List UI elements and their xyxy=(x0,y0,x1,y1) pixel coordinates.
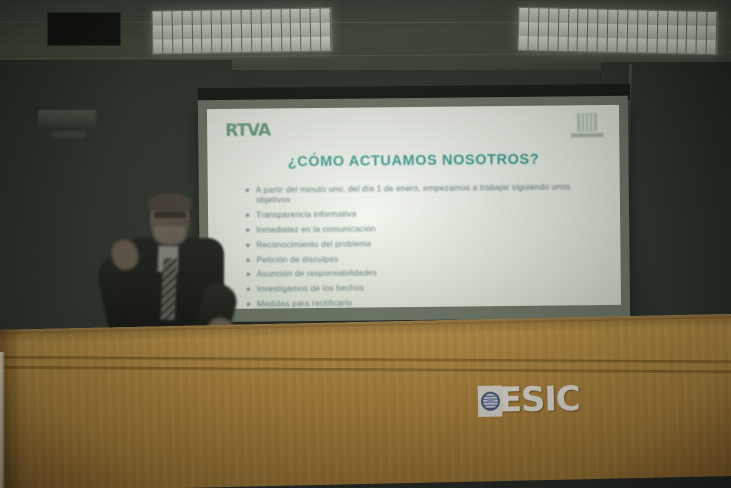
crest-caption-bar xyxy=(571,133,603,137)
presenter-beard xyxy=(154,226,186,246)
presenter-tie xyxy=(161,258,178,321)
crest-icon xyxy=(577,113,597,131)
slide-title: ¿CÓMO ACTUAMOS NOSOTROS? xyxy=(207,151,619,171)
projection-screen: RTVA ¿CÓMO ACTUAMOS NOSOTROS? A partir d… xyxy=(198,96,630,322)
ceiling-vent xyxy=(47,12,121,46)
list-item: Investigamos de los hechos xyxy=(245,280,595,294)
seal-icon xyxy=(480,392,499,411)
wall-sign xyxy=(38,110,96,129)
presenter-hair xyxy=(148,193,192,213)
podium xyxy=(0,314,731,488)
esic-logo: ESIC xyxy=(478,384,580,417)
slide-bullet-list: A partir del minuto uno, del día 1 de en… xyxy=(244,181,595,309)
list-item: Asunción de responsabilidades xyxy=(245,266,595,280)
light-grille-row xyxy=(153,36,331,54)
list-item: Medidas para rectificarlo xyxy=(245,295,595,309)
rtva-logo: RTVA xyxy=(225,121,270,141)
list-item: Transparencia informativa xyxy=(244,206,594,220)
slide-secondary-logo xyxy=(571,113,603,139)
list-item: Petición de disculpas xyxy=(244,251,594,265)
wall-sign-subtext xyxy=(52,131,86,138)
list-item: Inmediatez en la comunicación xyxy=(244,221,594,235)
ceiling-light-right xyxy=(518,7,719,55)
list-item: A partir del minuto uno, del día 1 de en… xyxy=(244,181,594,205)
conference-room-photo: RTVA ¿CÓMO ACTUAMOS NOSOTROS? A partir d… xyxy=(0,0,731,488)
presentation-slide: RTVA ¿CÓMO ACTUAMOS NOSOTROS? A partir d… xyxy=(207,105,621,309)
list-item: Reconocimiento del problema xyxy=(244,236,594,250)
esic-wordmark: ESIC xyxy=(499,384,580,417)
left-edge-highlight xyxy=(0,352,5,488)
glasses-icon xyxy=(154,212,186,218)
ceiling-light-left xyxy=(152,7,333,54)
